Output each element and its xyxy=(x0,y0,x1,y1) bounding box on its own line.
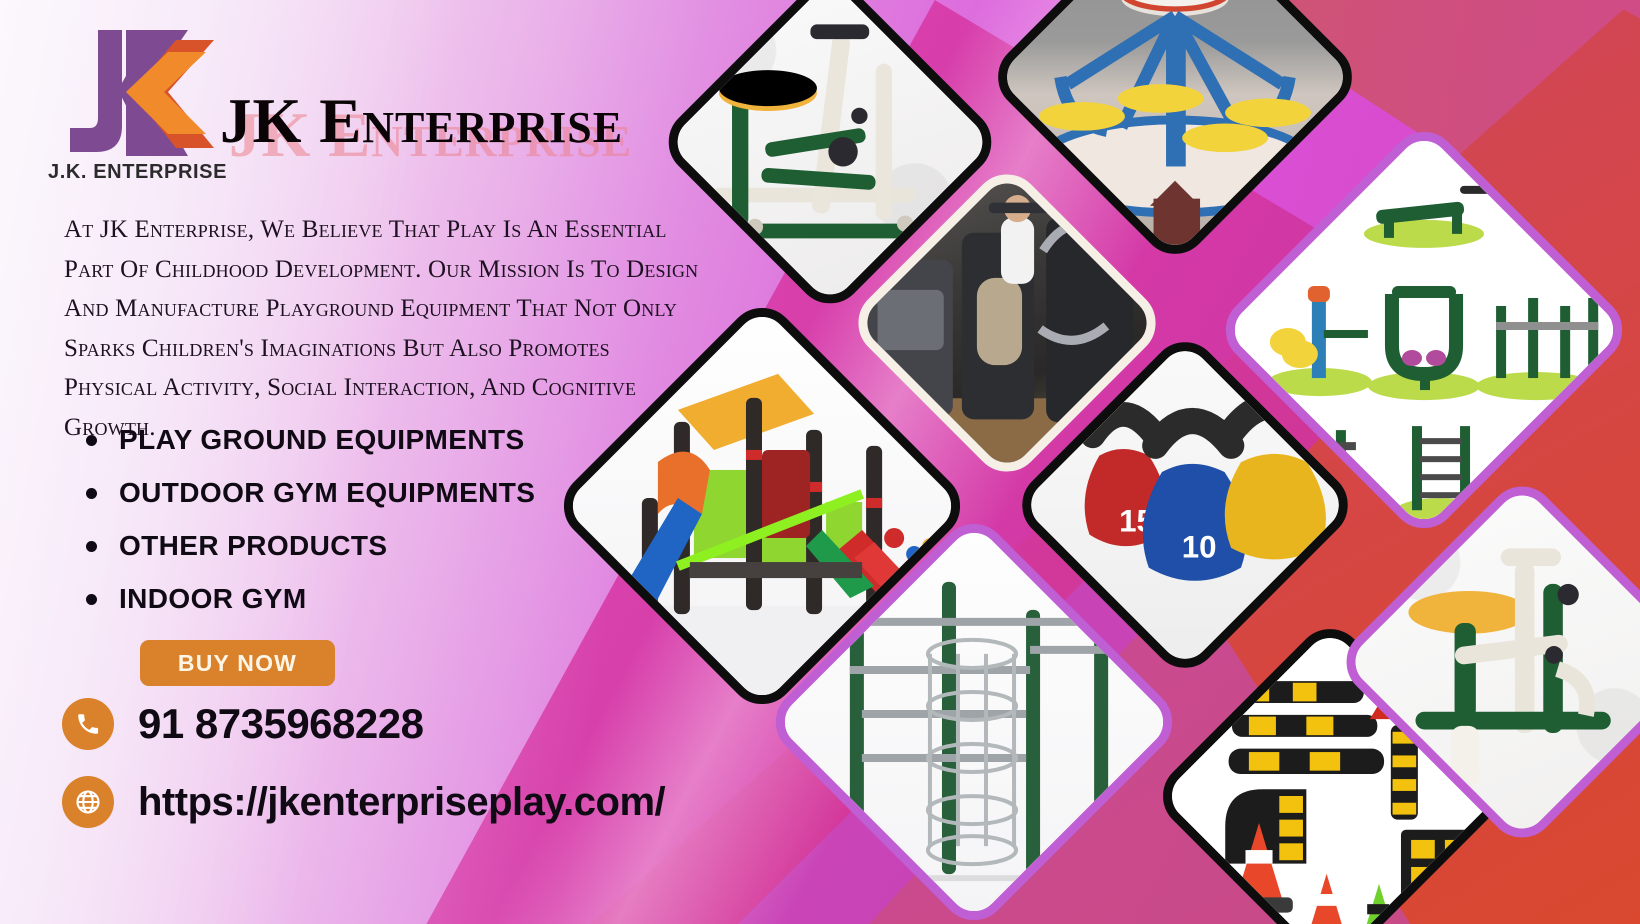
jk-logo-icon xyxy=(64,22,214,172)
contact-website-row[interactable]: https://jkenterpriseplay.com/ xyxy=(62,776,665,828)
bullet-icon xyxy=(86,541,97,552)
logo-caption: J.K. ENTERPRISE xyxy=(48,161,227,184)
phone-number: 91 8735968228 xyxy=(138,700,423,748)
list-item[interactable]: INDOOR GYM xyxy=(86,583,535,615)
globe-icon xyxy=(62,776,114,828)
contact-phone-row[interactable]: 91 8735968228 xyxy=(62,698,423,750)
buy-now-button[interactable]: BUY NOW xyxy=(140,640,335,686)
jk-logo: J.K. ENTERPRISE xyxy=(64,22,214,190)
product-label: OUTDOOR GYM EQUIPMENTS xyxy=(119,477,535,509)
product-label: INDOOR GYM xyxy=(119,583,307,615)
kettlebell-label-blue: 10 xyxy=(1182,530,1217,565)
website-url: https://jkenterpriseplay.com/ xyxy=(138,780,665,825)
list-item[interactable]: PLAY GROUND EQUIPMENTS xyxy=(86,424,535,456)
bullet-icon xyxy=(86,488,97,499)
list-item[interactable]: OTHER PRODUCTS xyxy=(86,530,535,562)
brand-header: J.K. ENTERPRISE JK Enterprise xyxy=(64,22,623,190)
product-label: PLAY GROUND EQUIPMENTS xyxy=(119,424,525,456)
list-item[interactable]: OUTDOOR GYM EQUIPMENTS xyxy=(86,477,535,509)
product-list: PLAY GROUND EQUIPMENTS OUTDOOR GYM EQUIP… xyxy=(86,424,535,636)
about-paragraph: At JK Enterprise, We Believe That Play I… xyxy=(64,210,704,447)
page-title: JK Enterprise xyxy=(220,60,623,153)
promo-banner: 15 10 xyxy=(0,0,1640,924)
bullet-icon xyxy=(86,594,97,605)
product-label: OTHER PRODUCTS xyxy=(119,530,388,562)
left-content-column: J.K. ENTERPRISE JK Enterprise At JK Ente… xyxy=(0,0,740,924)
bullet-icon xyxy=(86,435,97,446)
phone-icon xyxy=(62,698,114,750)
